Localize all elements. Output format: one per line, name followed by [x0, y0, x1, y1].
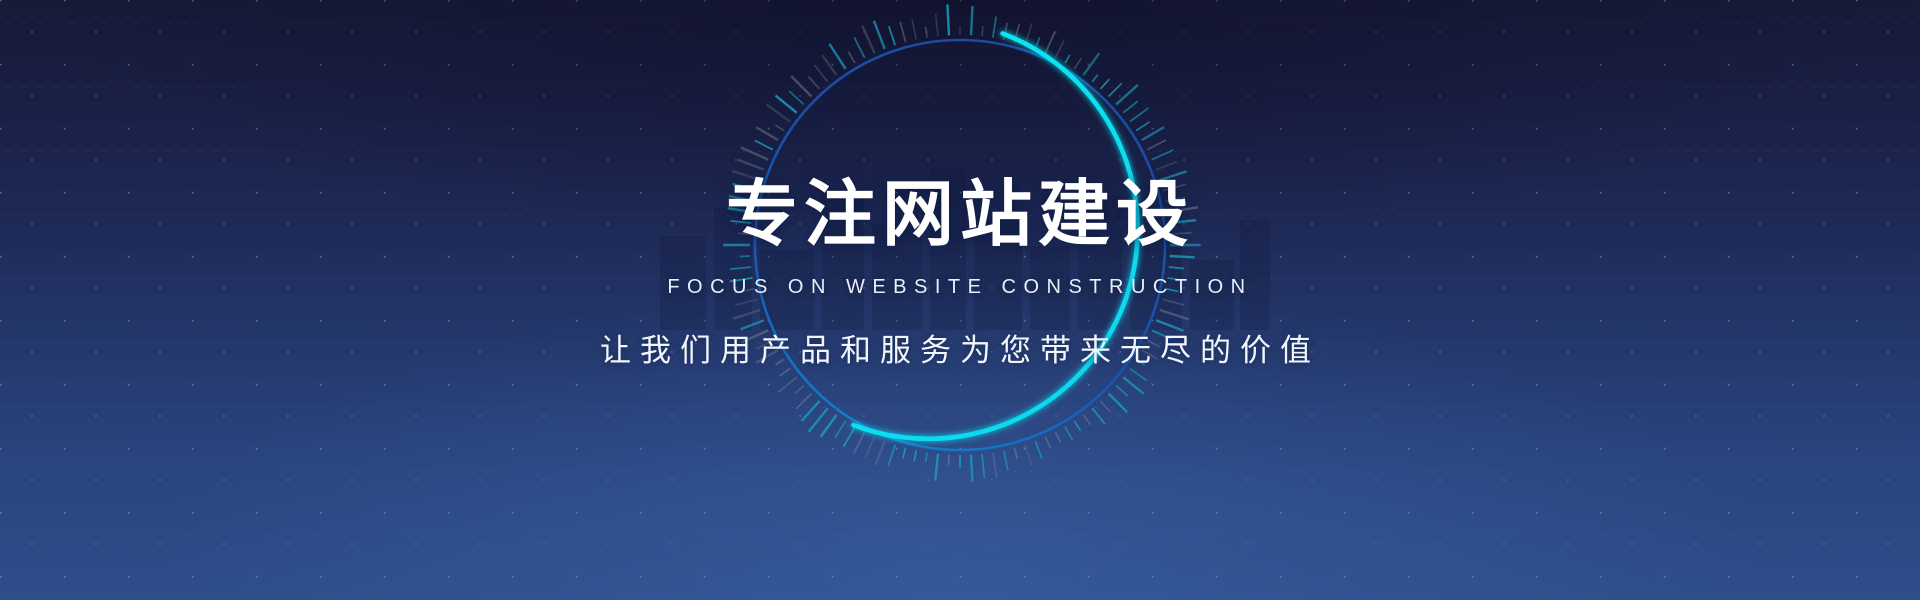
ring-tick-marks: [723, 4, 1201, 481]
page-tagline: 让我们用产品和服务为您带来无尽的价值: [0, 325, 1920, 370]
page-title: 专注网站建设: [0, 178, 1920, 250]
background-top-shade: [0, 0, 1920, 600]
background-glow-vignette: [0, 0, 1920, 600]
banner-text-block: 专注网站建设 FOCUS ON WEBSITE CONSTRUCTION 让我们…: [0, 178, 1920, 370]
city-skyline-icon: [640, 150, 1280, 330]
hero-banner: 专注网站建设 FOCUS ON WEBSITE CONSTRUCTION 让我们…: [0, 0, 1920, 600]
page-subtitle: FOCUS ON WEBSITE CONSTRUCTION: [0, 276, 1920, 299]
background-dot-grid: [0, 0, 1920, 600]
background-plus-grid: [0, 0, 1920, 600]
tech-ring-graphic: [700, 0, 1220, 505]
ring-accent-arc: [854, 34, 1138, 439]
background-dash-grid: [0, 0, 1920, 600]
ring-base-circle: [755, 40, 1165, 450]
